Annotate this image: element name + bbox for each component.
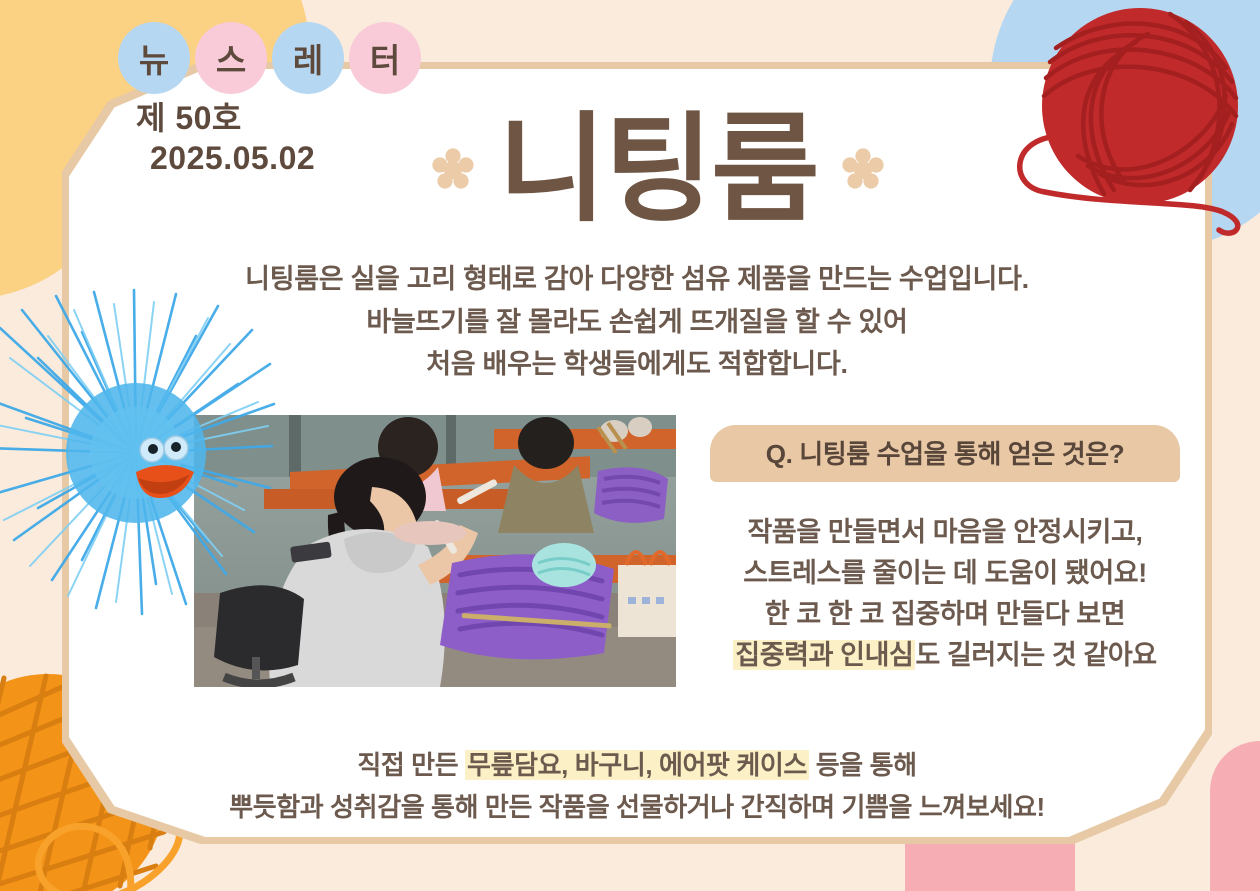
qa-answer-line-2: 스트레스를 줄이는 데 도움이 됐어요! bbox=[700, 553, 1190, 594]
qa-section: Q. 니팅룸 수업을 통해 얻은 것은? 작품을 만들면서 마음을 안정시키고,… bbox=[700, 425, 1190, 676]
newsletter-circle-4: 터 bbox=[349, 22, 421, 94]
issue-info: 제 50호 2025.05.02 bbox=[136, 98, 315, 180]
plain-text: 등을 통해 bbox=[809, 750, 917, 780]
red-yarn-thread-icon bbox=[1005, 130, 1260, 240]
page-title: 니팅룸 bbox=[430, 110, 886, 228]
plain-text: 직접 만든 bbox=[357, 750, 465, 780]
newsletter-circle-2: 스 bbox=[195, 22, 267, 94]
issue-date: 2025.05.02 bbox=[136, 138, 315, 180]
footer-line-1: 직접 만든 무릎담요, 바구니, 에어팟 케이스 등을 통해 bbox=[62, 745, 1212, 787]
blue-furry-bird-plush-icon bbox=[0, 288, 276, 618]
highlighted-text: 집중력과 인내심 bbox=[733, 640, 915, 670]
qa-answer-line-4: 집중력과 인내심도 길러지는 것 같아요 bbox=[700, 635, 1190, 676]
plain-text: 도 길러지는 것 같아요 bbox=[915, 640, 1156, 670]
plain-text: 스트레스를 줄이는 데 도움이 됐어요! bbox=[743, 558, 1147, 588]
star-decoration-left-icon bbox=[430, 146, 476, 192]
issue-number: 제 50호 bbox=[136, 98, 315, 138]
qa-answer-line-1: 작품을 만들면서 마음을 안정시키고, bbox=[700, 512, 1190, 553]
newsletter-char-3: 레 bbox=[293, 34, 323, 82]
newsletter-char-4: 터 bbox=[370, 34, 400, 82]
newsletter-circle-3: 레 bbox=[272, 22, 344, 94]
pink-blob-bottom-right bbox=[1210, 741, 1260, 891]
qa-answer-line-3: 한 코 한 코 집중하며 만들다 보면 bbox=[700, 594, 1190, 635]
plain-text: 한 코 한 코 집중하며 만들다 보면 bbox=[765, 599, 1125, 629]
plain-text: 뿌듯함과 성취감을 통해 만든 작품을 선물하거나 간직하며 기쁨을 느껴보세요… bbox=[229, 792, 1045, 822]
plain-text: 작품을 만들면서 마음을 안정시키고, bbox=[747, 517, 1142, 547]
poster-canvas: 뉴 스 레 터 제 50호 2025.05.02 니팅룸 bbox=[0, 0, 1260, 891]
newsletter-char-2: 스 bbox=[216, 34, 246, 82]
qa-answer: 작품을 만들면서 마음을 안정시키고, 스트레스를 줄이는 데 도움이 됐어요!… bbox=[700, 512, 1190, 676]
qa-question: Q. 니팅룸 수업을 통해 얻은 것은? bbox=[710, 425, 1180, 482]
footer-line-2: 뿌듯함과 성취감을 통해 만든 작품을 선물하거나 간직하며 기쁨을 느껴보세요… bbox=[62, 787, 1212, 829]
footer-block: 직접 만든 무릎담요, 바구니, 에어팟 케이스 등을 통해 뿌듯함과 성취감을… bbox=[62, 745, 1212, 828]
highlighted-text: 무릎담요, 바구니, 에어팟 케이스 bbox=[465, 750, 809, 780]
newsletter-char-1: 뉴 bbox=[139, 34, 169, 82]
star-decoration-right-icon bbox=[840, 146, 886, 192]
newsletter-circle-1: 뉴 bbox=[118, 22, 190, 94]
title-text: 니팅룸 bbox=[498, 110, 818, 228]
newsletter-badge: 뉴 스 레 터 bbox=[118, 22, 421, 94]
